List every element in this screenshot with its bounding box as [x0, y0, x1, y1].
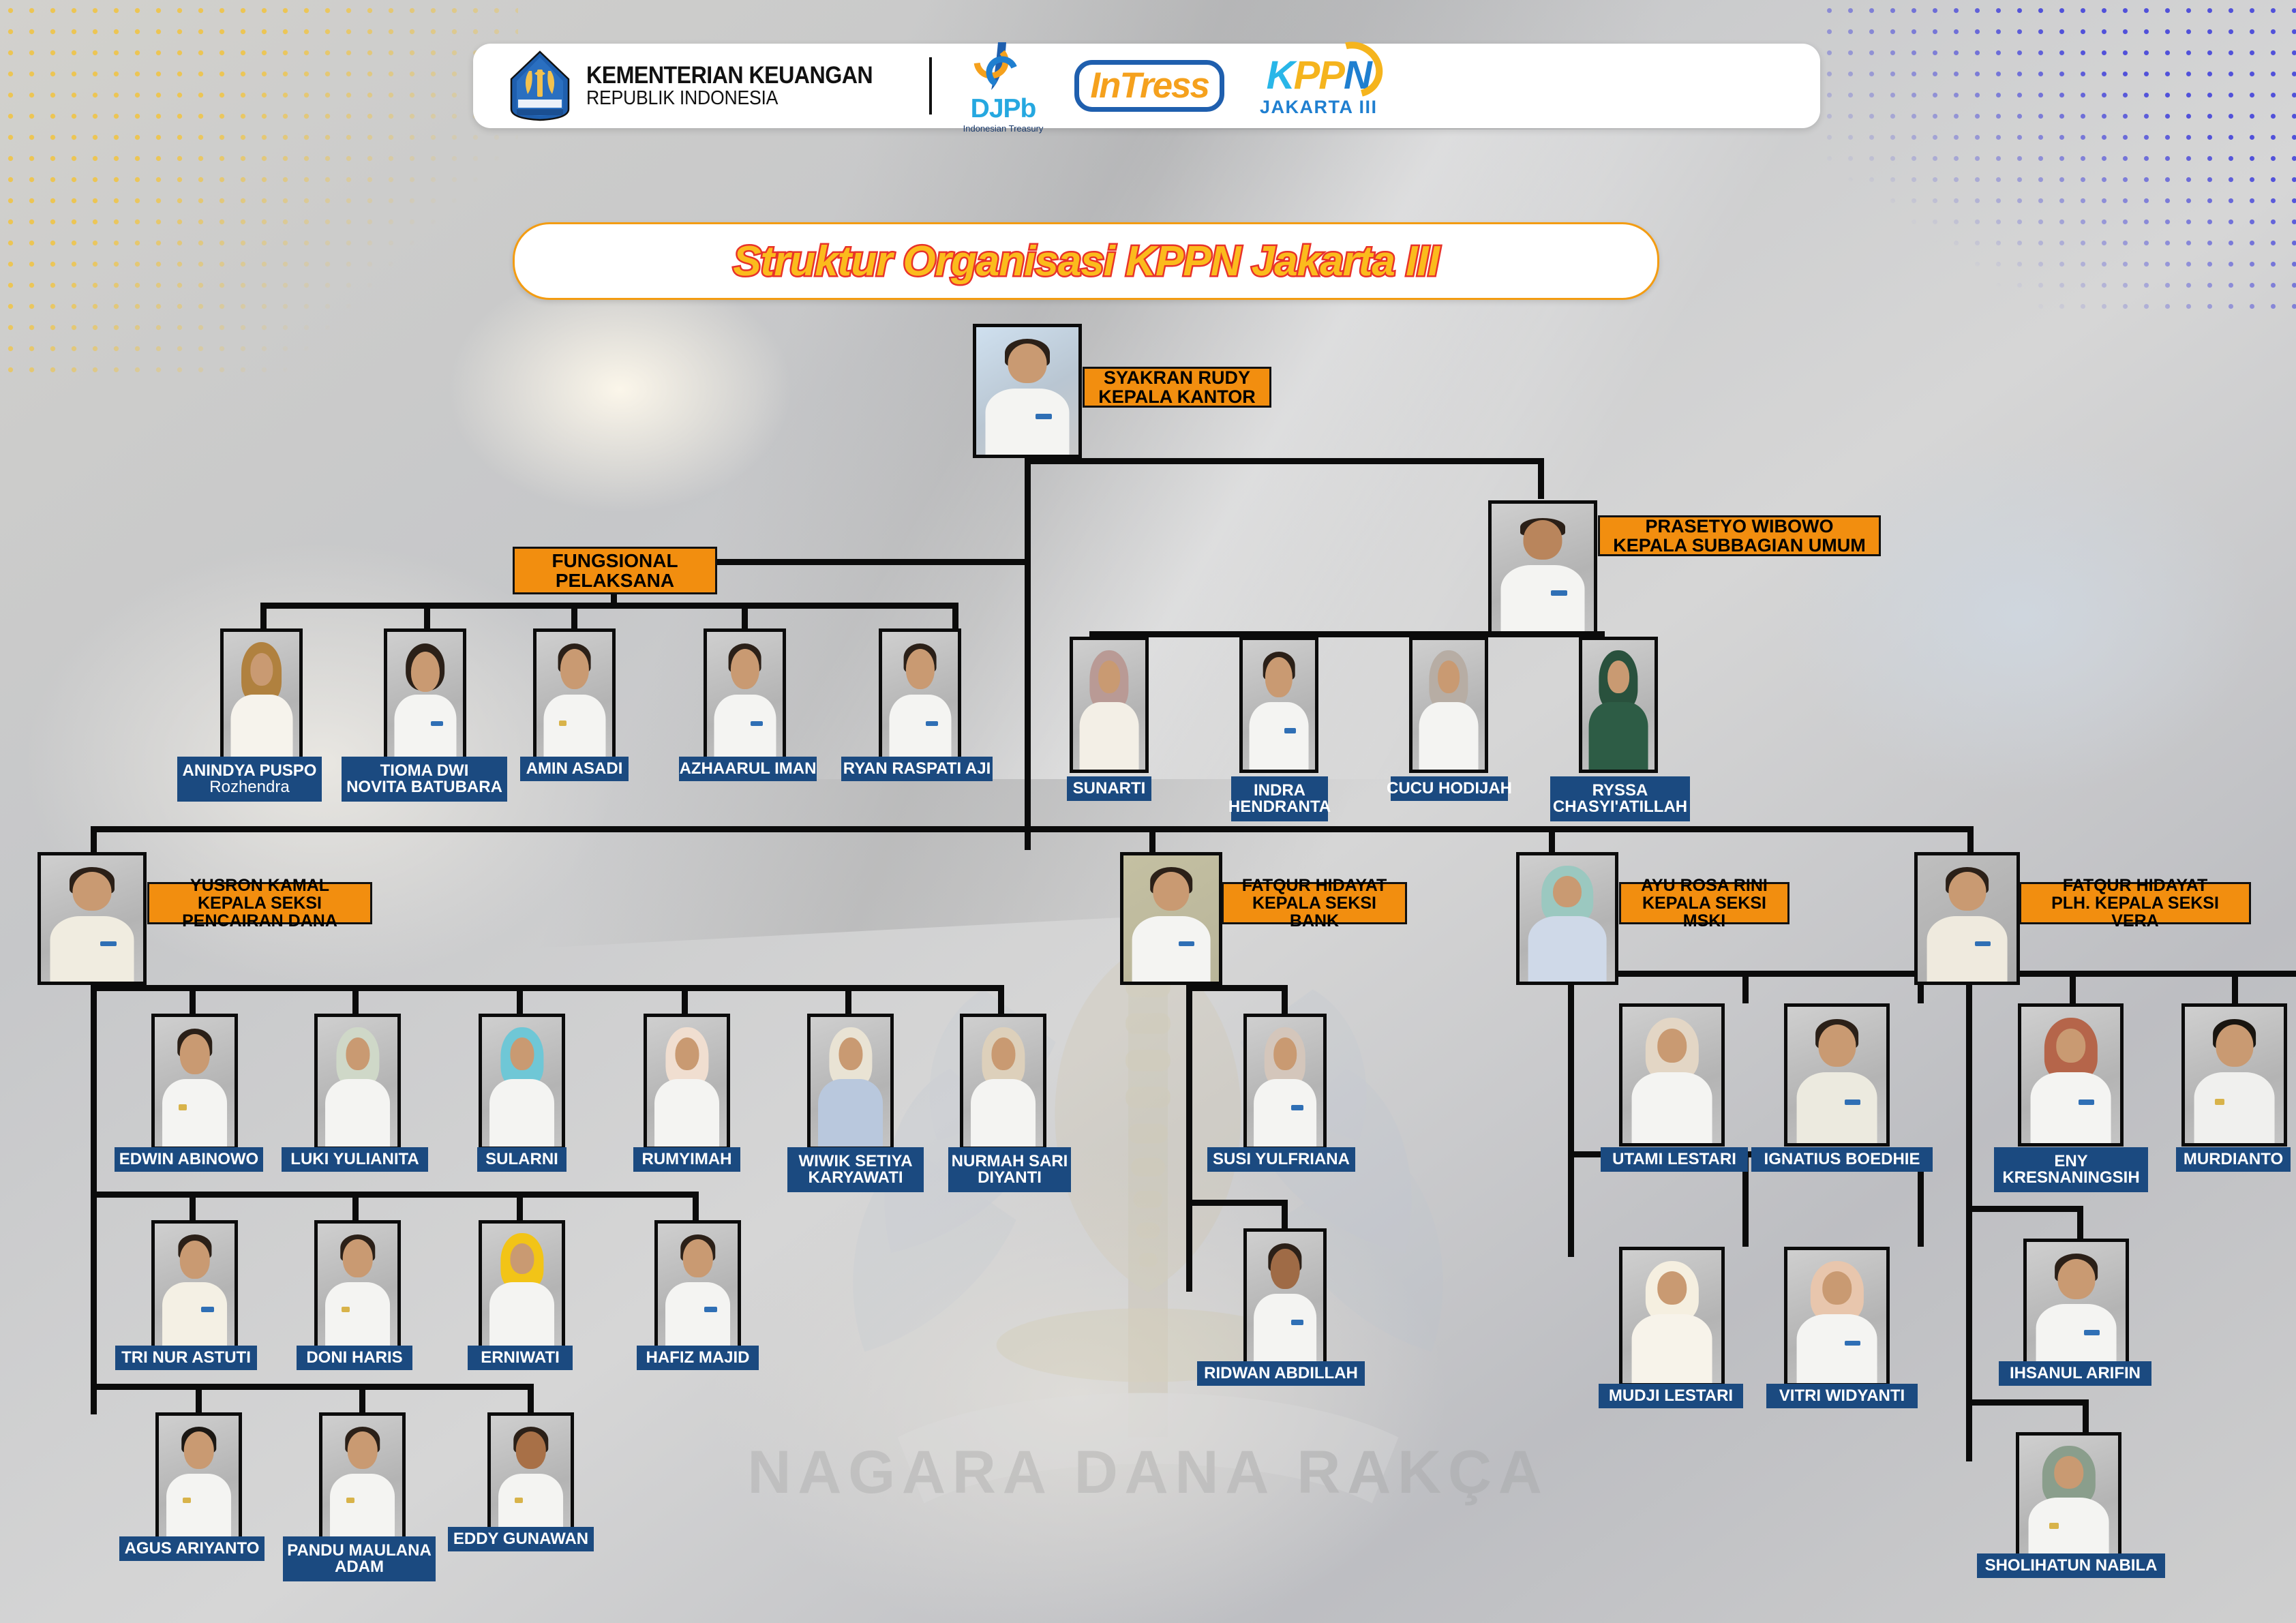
connector	[2232, 971, 2238, 1003]
photo-pandu-maulana-adam	[319, 1412, 406, 1541]
role-label-kepala-seksi-bank: FATQUR HIDAYAT KEPALA SEKSI BANK	[1222, 882, 1407, 924]
connector	[1186, 985, 1192, 1292]
djpb-mark-icon	[971, 40, 1036, 95]
name-label-eny-kresnaningsih: ENYKRESNANINGSIH	[1994, 1147, 2148, 1192]
kemenkeu-crest-icon	[509, 50, 571, 121]
name-label-anindya-puspo: ANINDYA PUSPORozhendra	[177, 757, 322, 802]
connector	[1568, 971, 1574, 1257]
connector	[190, 985, 196, 1014]
photo-vitri-widyanti	[1784, 1247, 1890, 1386]
photo-fatqur-hidayat-bank	[1120, 852, 1222, 985]
connector	[528, 1384, 534, 1412]
name-label-susi-yulfriana: SUSI YULFRIANA	[1207, 1147, 1355, 1172]
connector	[260, 603, 267, 630]
connector	[1186, 985, 1287, 991]
photo-ryssa-chasyiatillah	[1579, 637, 1658, 773]
page-title: Struktur Organisasi KPPN Jakarta III	[733, 237, 1439, 286]
connector	[91, 826, 97, 852]
name-label-ihsanul-arifin: IHSANUL ARIFIN	[1999, 1361, 2151, 1386]
name-label-indra-hendranta: INDRAHENDRANTA	[1231, 776, 1328, 821]
name-label-ignatius-boedhie: IGNATIUS BOEDHIE	[1751, 1147, 1933, 1172]
photo-fatqur-hidayat-vera	[1914, 852, 2020, 985]
name-label-nurmah-sari-diyanti: NURMAH SARIDIYANTI	[948, 1147, 1071, 1192]
name-label-azhaarul-iman: AZHAARUL IMAN	[679, 757, 817, 781]
connector	[952, 603, 958, 630]
institution-logo-bar: KEMENTERIAN KEUANGAN REPUBLIK INDONESIA …	[473, 44, 1820, 128]
name-label-hafiz-majid: HAFIZ MAJID	[637, 1346, 759, 1370]
connector	[424, 603, 430, 630]
photo-syakran-rudy	[973, 324, 1082, 458]
name-label-ryssa-chasyiatillah: RYSSACHASYI'ATILLAH	[1550, 776, 1690, 821]
name-label-tioma-dwi-novita-batubara: TIOMA DWINOVITA BATUBARA	[342, 757, 507, 802]
photo-agus-ariyanto	[155, 1412, 242, 1541]
name-label-agus-ariyanto: AGUS ARIYANTO	[119, 1536, 265, 1561]
photo-susi-yulfriana	[1243, 1014, 1327, 1150]
djpb-logo: DJPb Indonesian Treasury	[963, 40, 1044, 133]
photo-cucu-hodijah	[1409, 637, 1488, 773]
role-name: FATQUR HIDAYAT	[2063, 877, 2208, 894]
kemenkeu-logo-group: KEMENTERIAN KEUANGAN REPUBLIK INDONESIA	[509, 50, 898, 121]
name-label-doni-haris: DONI HARIS	[297, 1346, 412, 1370]
connector	[1149, 826, 1155, 852]
name-label-edwin-abinowo: EDWIN ABINOWO	[115, 1147, 263, 1172]
connector	[2077, 1206, 2083, 1239]
role-label-kepala-seksi-pencairan-dana: YUSRON KAMAL KEPALA SEKSI PENCAIRAN DANA	[147, 882, 372, 924]
photo-amin-asadi	[533, 628, 616, 766]
role-title: KEPALA SEKSI PENCAIRAN DANA	[157, 894, 362, 930]
photo-utami-lestari	[1619, 1003, 1725, 1147]
connector	[352, 985, 359, 1014]
connector	[91, 1384, 534, 1390]
connector	[693, 1192, 699, 1220]
intress-logo: InTress	[1074, 60, 1224, 112]
photo-tioma-dwi-novita-batubara	[384, 628, 466, 766]
connector	[260, 603, 958, 609]
connector	[359, 1384, 365, 1412]
photo-luki-yulianita	[314, 1014, 401, 1150]
name-label-sularni: SULARNI	[477, 1147, 567, 1172]
connector	[845, 985, 851, 1014]
photo-ayu-rosa-rini	[1516, 852, 1618, 985]
connector	[1966, 1399, 2089, 1406]
connector	[2083, 1399, 2089, 1432]
kppn-jakarta-iii-logo: KPPN JAKARTA III	[1260, 56, 1378, 117]
name-label-sholihatun-nabila: SHOLIHATUN NABILA	[1977, 1553, 2165, 1578]
name-label-luki-yulianita: LUKI YULIANITA	[282, 1147, 428, 1172]
role-label-plh-kepala-seksi-vera: FATQUR HIDAYAT PLH. KEPALA SEKSI VERA	[2019, 882, 2251, 924]
connector	[1742, 971, 1749, 1003]
name-label-utami-lestari: UTAMI LESTARI	[1601, 1147, 1748, 1172]
connector	[2070, 971, 2076, 1003]
photo-prasetyo-wibowo	[1488, 500, 1597, 635]
photo-ryan-raspati-aji	[879, 628, 961, 766]
photo-sholihatun-nabila	[2016, 1432, 2121, 1568]
name-label-rumyimah: RUMYIMAH	[633, 1147, 740, 1172]
connector	[998, 985, 1004, 1014]
role-title: KEPALA SEKSI MSKI	[1629, 894, 1779, 930]
role-name: SYAKRAN RUDY	[1104, 368, 1250, 387]
role-label-kepala-subbagian-umum: PRASETYO WIBOWO KEPALA SUBBAGIAN UMUM	[1598, 515, 1881, 556]
photo-murdianto	[2181, 1003, 2287, 1147]
role-name: PRASETYO WIBOWO	[1646, 517, 1834, 536]
connector	[1549, 826, 1555, 852]
name-label-ridwan-abdillah: RIDWAN ABDILLAH	[1197, 1361, 1365, 1386]
photo-tri-nur-astuti	[151, 1220, 238, 1350]
connector	[1282, 1200, 1288, 1228]
connector	[352, 1192, 359, 1220]
connector	[517, 985, 523, 1014]
photo-rumyimah	[644, 1014, 730, 1150]
page-title-banner: Struktur Organisasi KPPN Jakarta III	[513, 222, 1659, 300]
photo-eddy-gunawan	[487, 1412, 574, 1541]
connector	[1538, 458, 1544, 499]
connector	[1186, 1200, 1287, 1206]
connector	[91, 826, 1973, 832]
name-label-pandu-maulana-adam: PANDU MAULANAADAM	[283, 1536, 436, 1581]
name-label-cucu-hodijah: CUCU HODIJAH	[1391, 776, 1508, 801]
ministry-name-line2: REPUBLIK INDONESIA	[586, 88, 873, 110]
connector	[91, 985, 97, 1414]
role-label-kepala-kantor: SYAKRAN RUDY KEPALA KANTOR	[1083, 367, 1271, 408]
photo-ihsanul-arifin	[2023, 1239, 2129, 1375]
photo-hafiz-majid	[654, 1220, 741, 1350]
intress-wordmark: InTress	[1090, 65, 1209, 106]
photo-azhaarul-iman	[704, 628, 786, 766]
connector	[196, 1384, 202, 1412]
name-label-wiwik-setiya-karyawati: WIWIK SETIYAKARYAWATI	[787, 1147, 924, 1192]
photo-erniwati	[479, 1220, 565, 1350]
photo-doni-haris	[314, 1220, 401, 1350]
connector	[517, 1192, 523, 1220]
photo-sunarti	[1070, 637, 1149, 773]
connector	[91, 985, 1004, 991]
name-label-erniwati: ERNIWATI	[468, 1346, 573, 1370]
connector	[742, 603, 748, 630]
group-label-line1: FUNGSIONAL	[552, 551, 678, 571]
name-label-eddy-gunawan: EDDY GUNAWAN	[448, 1527, 594, 1551]
photo-nurmah-sari-diyanti	[960, 1014, 1046, 1150]
role-title: KEPALA SUBBAGIAN UMUM	[1613, 536, 1866, 555]
photo-wiwik-setiya-karyawati	[807, 1014, 894, 1150]
photo-ignatius-boedhie	[1784, 1003, 1890, 1147]
name-label-sunarti: SUNARTI	[1067, 776, 1151, 801]
connector	[91, 1192, 699, 1198]
ministry-name-line1: KEMENTERIAN KEUANGAN	[586, 63, 873, 88]
role-title: KEPALA SEKSI BANK	[1232, 894, 1397, 930]
connector	[1966, 1206, 2083, 1212]
role-label-fungsional-pelaksana: FUNGSIONAL PELAKSANA	[513, 547, 717, 594]
photo-eny-kresnaningsih	[2018, 1003, 2124, 1147]
name-label-murdianto: MURDIANTO	[2176, 1147, 2291, 1172]
photo-ridwan-abdillah	[1243, 1228, 1327, 1365]
logo-divider	[929, 57, 932, 115]
role-title: KEPALA KANTOR	[1098, 387, 1256, 406]
role-name: AYU ROSA RINI	[1641, 877, 1768, 894]
role-label-kepala-seksi-mski: AYU ROSA RINI KEPALA SEKSI MSKI	[1619, 882, 1789, 924]
name-label-vitri-widyanti: VITRI WIDYANTI	[1766, 1384, 1918, 1408]
djpb-wordmark: DJPb	[971, 95, 1036, 122]
role-name: FATQUR HIDAYAT	[1242, 877, 1387, 894]
photo-sularni	[479, 1014, 565, 1150]
group-label-line2: PELAKSANA	[556, 571, 674, 590]
connector	[190, 1192, 196, 1220]
kppn-subtitle: JAKARTA III	[1260, 98, 1378, 117]
connector	[1025, 458, 1031, 850]
connector	[1966, 971, 1972, 1461]
photo-mudji-lestari	[1619, 1247, 1725, 1386]
role-title: PLH. KEPALA SEKSI VERA	[2029, 894, 2241, 930]
photo-indra-hendranta	[1239, 637, 1318, 773]
connector	[1025, 458, 1544, 464]
djpb-subtitle: Indonesian Treasury	[963, 124, 1044, 133]
name-label-ryan-raspati-aji: RYAN RASPATI AJI	[841, 757, 993, 781]
connector	[682, 985, 688, 1014]
connector	[1282, 985, 1288, 1014]
photo-edwin-abinowo	[151, 1014, 238, 1150]
photo-yusron-kamal	[37, 852, 147, 985]
connector	[1967, 826, 1974, 852]
name-label-mudji-lestari: MUDJI LESTARI	[1599, 1384, 1743, 1408]
name-label-tri-nur-astuti: TRI NUR ASTUTI	[115, 1346, 257, 1370]
connector	[571, 603, 577, 630]
role-name: YUSRON KAMAL	[190, 877, 329, 894]
name-label-amin-asadi: AMIN ASADI	[520, 757, 629, 781]
photo-anindya-puspo	[220, 628, 303, 766]
